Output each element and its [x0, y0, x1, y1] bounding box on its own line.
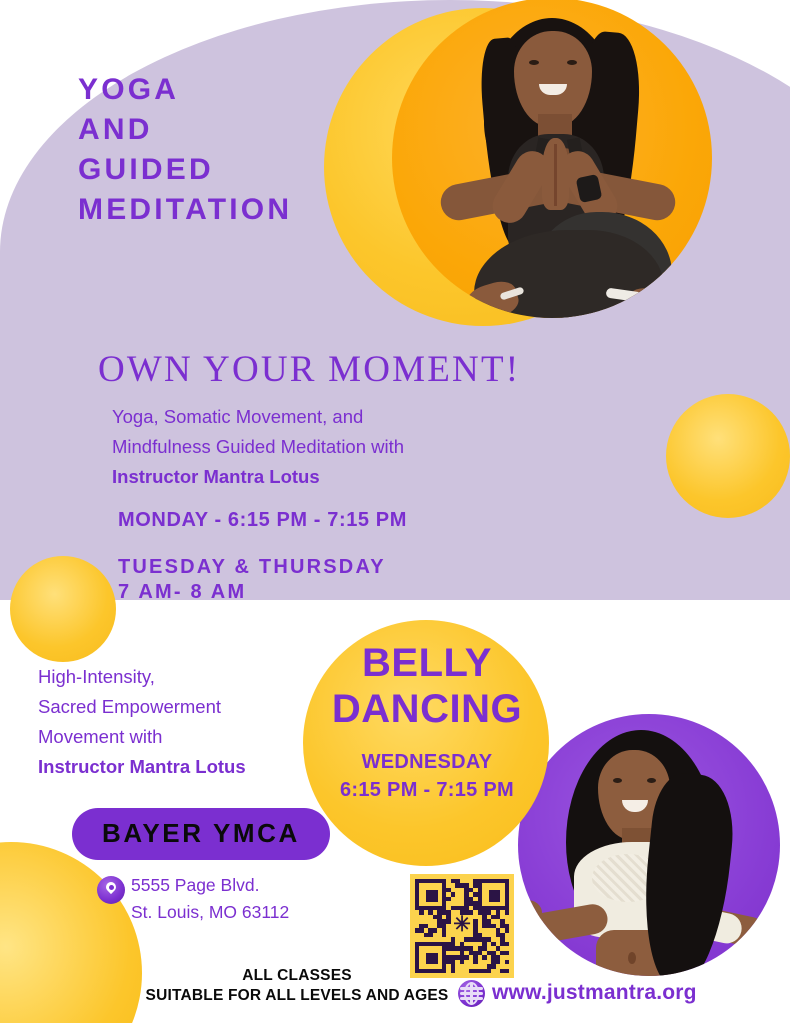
venue-address-line1: 5555 Page Blvd.	[131, 872, 391, 899]
yoga-schedule-tue-thu-time: 7 AM- 8 AM	[118, 580, 558, 605]
yoga-schedule-tue-thu: TUESDAY & THURSDAY	[118, 555, 558, 580]
venue-name-badge: BAYER YMCA	[72, 808, 330, 860]
flyer-poster: YOGA AND GUIDED MEDITATION OWN YOUR MOME…	[0, 0, 790, 1023]
qr-code[interactable]: ✳	[410, 874, 514, 978]
yoga-instructor: Instructor Mantra Lotus	[112, 462, 532, 492]
venue-address-line2: St. Louis, MO 63112	[131, 899, 391, 926]
belly-dancing-title: BELLY DANCING	[316, 640, 538, 732]
map-pin-icon	[97, 876, 125, 904]
belly-instructor: Instructor Mantra Lotus	[38, 752, 308, 782]
website-url[interactable]: www.justmantra.org	[492, 981, 697, 1005]
decorative-circle-yellow-bottomleft	[0, 842, 142, 1023]
belly-schedule: WEDNESDAY 6:15 PM - 7:15 PM	[316, 748, 538, 804]
belly-title-line2: DANCING	[316, 686, 538, 732]
footer-note-line1: ALL CLASSES	[137, 966, 457, 986]
yoga-photo-circle	[392, 0, 712, 318]
yoga-description-line2: Mindfulness Guided Meditation with	[112, 432, 532, 462]
belly-title-line1: BELLY	[316, 640, 538, 686]
page-title: YOGA AND GUIDED MEDITATION	[78, 70, 292, 230]
belly-description-line1: High-Intensity,	[38, 662, 308, 692]
decorative-circle-yellow-right	[666, 394, 790, 518]
belly-description-line2: Sacred Empowerment	[38, 692, 308, 722]
decorative-circle-yellow-midleft	[10, 556, 116, 662]
yoga-description: Yoga, Somatic Movement, and Mindfulness …	[112, 402, 532, 492]
yoga-description-line1: Yoga, Somatic Movement, and	[112, 402, 532, 432]
yoga-schedule-monday: MONDAY - 6:15 PM - 7:15 PM	[118, 509, 407, 531]
belly-schedule-time: 6:15 PM - 7:15 PM	[316, 776, 538, 804]
footer-note: ALL CLASSES SUITABLE FOR ALL LEVELS AND …	[137, 966, 457, 1006]
belly-schedule-day: WEDNESDAY	[316, 748, 538, 776]
belly-dancer-photo-circle	[518, 714, 780, 976]
globe-icon	[458, 980, 485, 1007]
venue-address: 5555 Page Blvd. St. Louis, MO 63112	[131, 872, 391, 926]
belly-description-line3: Movement with	[38, 722, 308, 752]
belly-description: High-Intensity, Sacred Empowerment Movem…	[38, 662, 308, 782]
footer-note-line2: SUITABLE FOR ALL LEVELS AND AGES	[137, 986, 457, 1006]
tagline: OWN YOUR MOMENT!	[98, 348, 520, 391]
yoga-schedule: MONDAY - 6:15 PM - 7:15 PM TUESDAY & THU…	[118, 508, 558, 605]
